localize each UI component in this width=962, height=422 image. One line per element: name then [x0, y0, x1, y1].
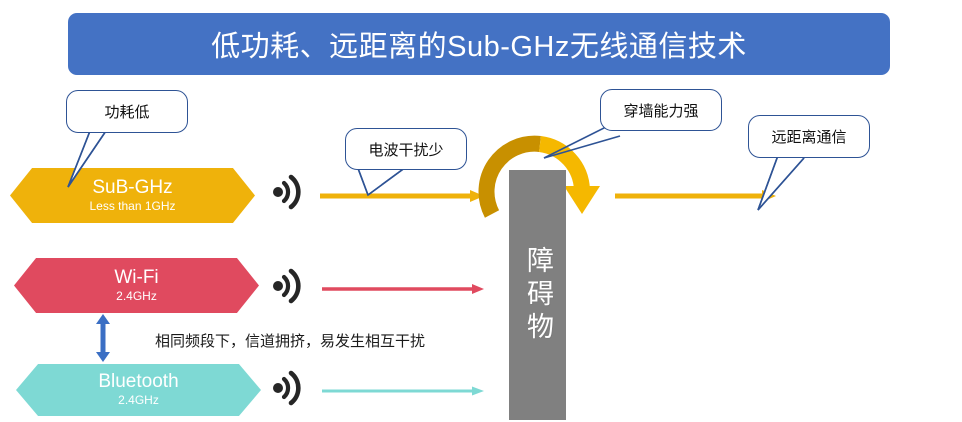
signal-arrow-bluetooth [322, 384, 485, 398]
double-headed-vertical-arrow-icon [93, 314, 113, 362]
tech-name: Wi-Fi [114, 268, 158, 288]
tech-frequency: 2.4GHz [118, 393, 159, 407]
obstacle-block: 障碍物 [509, 170, 566, 420]
callout-label: 电波干扰少 [368, 139, 443, 160]
wifi-signal-icon [272, 368, 306, 408]
callout-tail-distance [740, 150, 860, 220]
wifi-signal-icon [272, 172, 306, 212]
callout-low-power[interactable]: 功耗低 [66, 90, 188, 133]
wifi-signal-icon [272, 266, 306, 306]
interference-note: 相同频段下，信道拥挤，易发生相互干扰 [155, 330, 425, 351]
page-title: 低功耗、远距离的Sub-GHz无线通信技术 [211, 23, 747, 65]
tech-name: Bluetooth [98, 372, 178, 392]
callout-long-range[interactable]: 远距离通信 [748, 115, 870, 158]
callout-label: 穿墙能力强 [623, 100, 698, 121]
obstacle-label: 障碍物 [524, 246, 551, 345]
title-banner: 低功耗、远距离的Sub-GHz无线通信技术 [68, 13, 890, 75]
callout-label: 远距离通信 [771, 126, 846, 147]
tech-frequency: 2.4GHz [116, 289, 157, 303]
callout-wall-penetration[interactable]: 穿墙能力强 [600, 89, 722, 131]
tech-frequency: Less than 1GHz [89, 199, 175, 213]
callout-low-interference[interactable]: 电波干扰少 [345, 128, 467, 170]
callout-tail-power [60, 125, 180, 195]
tech-badge-wifi[interactable]: Wi-Fi 2.4GHz [14, 258, 259, 313]
slide-canvas: 低功耗、远距离的Sub-GHz无线通信技术 功耗低 电波干扰少 穿墙能力强 远距… [0, 0, 962, 422]
callout-label: 功耗低 [104, 101, 149, 122]
signal-arrow-wifi [322, 282, 485, 296]
tech-badge-bluetooth[interactable]: Bluetooth 2.4GHz [16, 364, 261, 416]
